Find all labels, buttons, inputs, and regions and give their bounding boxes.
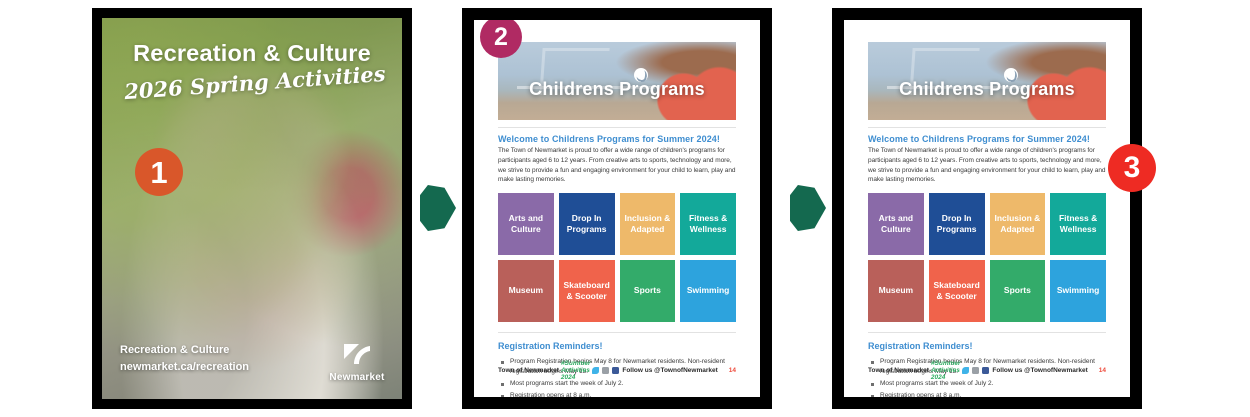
footer-hashtag: #Summer Activities 2024 [561,360,592,381]
tile-fitness-and-wellness[interactable]: Fitness & Wellness [1050,193,1106,255]
document-page-3-frame[interactable]: Childrens Programs Welcome to Childrens … [832,8,1142,409]
twitter-icon[interactable] [962,367,969,374]
instagram-icon[interactable] [972,367,979,374]
cover-page-frame[interactable]: Recreation & Culture 2026 Spring Activit… [92,8,412,409]
tile-swimming[interactable]: Swimming [680,260,736,322]
step-badge-3: 3 [1108,144,1156,192]
tile-inclusion-and-adapted[interactable]: Inclusion & Adapted [620,193,676,255]
divider [498,127,736,128]
page3-banner-title: Childrens Programs [868,79,1106,100]
page3-reminders-heading: Registration Reminders! [868,341,1106,351]
tile-museum[interactable]: Museum [868,260,924,322]
instagram-icon[interactable] [602,367,609,374]
facebook-icon[interactable] [612,367,619,374]
footer-page-number: 14 [1099,367,1106,374]
page2-content: Childrens Programs Welcome to Childrens … [498,42,736,397]
arrow-right-icon [420,185,456,231]
divider [498,332,736,333]
divider [868,332,1106,333]
tile-inclusion-and-adapted[interactable]: Inclusion & Adapted [990,193,1046,255]
list-item: Registration opens at 8 a.m. [868,391,1106,397]
screenshot-stage: Recreation & Culture 2026 Spring Activit… [0,0,1250,417]
cover-footer-line1: Recreation & Culture [120,342,249,359]
page3-banner: Childrens Programs [868,42,1106,120]
page2-program-tiles: Arts and Culture Drop In Programs Inclus… [498,193,736,322]
footer-org: Town of Newmarket [498,367,559,374]
facebook-icon[interactable] [982,367,989,374]
list-item: Registration opens at 8 a.m. [498,391,736,397]
page3-welcome-heading: Welcome to Childrens Programs for Summer… [868,134,1106,144]
tile-sports[interactable]: Sports [990,260,1046,322]
page3-program-tiles: Arts and Culture Drop In Programs Inclus… [868,193,1106,322]
tile-arts-and-culture[interactable]: Arts and Culture [868,193,924,255]
page3-footer: Town of Newmarket #Summer Activities 202… [868,360,1106,381]
document-page-2-frame[interactable]: Childrens Programs Welcome to Childrens … [462,8,772,409]
page3-welcome-body: The Town of Newmarket is proud to offer … [868,146,1106,185]
tile-drop-in-programs[interactable]: Drop In Programs [559,193,615,255]
footer-social: Follow us @TownofNewmarket 14 [592,367,736,374]
newmarket-logo: Newmarket [326,342,388,383]
newmarket-logo-icon [326,342,388,371]
tile-museum[interactable]: Museum [498,260,554,322]
tile-fitness-and-wellness[interactable]: Fitness & Wellness [680,193,736,255]
tile-drop-in-programs[interactable]: Drop In Programs [929,193,985,255]
step-badge-1: 1 [135,148,183,196]
page2-footer: Town of Newmarket #Summer Activities 202… [498,360,736,381]
footer-follow: Follow us @TownofNewmarket [622,367,717,374]
arrow-right-icon [790,185,826,231]
footer-social: Follow us @TownofNewmarket 14 [962,367,1106,374]
tile-skateboard-and-scooter[interactable]: Skateboard & Scooter [559,260,615,322]
twitter-icon[interactable] [592,367,599,374]
page2-banner: Childrens Programs [498,42,736,120]
page2-welcome-body: The Town of Newmarket is proud to offer … [498,146,736,185]
tile-swimming[interactable]: Swimming [1050,260,1106,322]
footer-org: Town of Newmarket [868,367,929,374]
page3-content: Childrens Programs Welcome to Childrens … [868,42,1106,397]
document-page-2: Childrens Programs Welcome to Childrens … [474,20,760,397]
page2-welcome-heading: Welcome to Childrens Programs for Summer… [498,134,736,144]
footer-follow: Follow us @TownofNewmarket [992,367,1087,374]
footer-page-number: 14 [729,367,736,374]
page2-banner-title: Childrens Programs [498,79,736,100]
cover-footer: Recreation & Culture newmarket.ca/recrea… [120,342,249,375]
cover-footer-line2: newmarket.ca/recreation [120,359,249,376]
cover-page: Recreation & Culture 2026 Spring Activit… [102,18,402,399]
document-page-3: Childrens Programs Welcome to Childrens … [844,20,1130,397]
newmarket-logo-word: Newmarket [326,372,388,383]
divider [868,127,1106,128]
tile-arts-and-culture[interactable]: Arts and Culture [498,193,554,255]
tile-sports[interactable]: Sports [620,260,676,322]
page2-reminders-heading: Registration Reminders! [498,341,736,351]
footer-hashtag: #Summer Activities 2024 [931,360,962,381]
tile-skateboard-and-scooter[interactable]: Skateboard & Scooter [929,260,985,322]
